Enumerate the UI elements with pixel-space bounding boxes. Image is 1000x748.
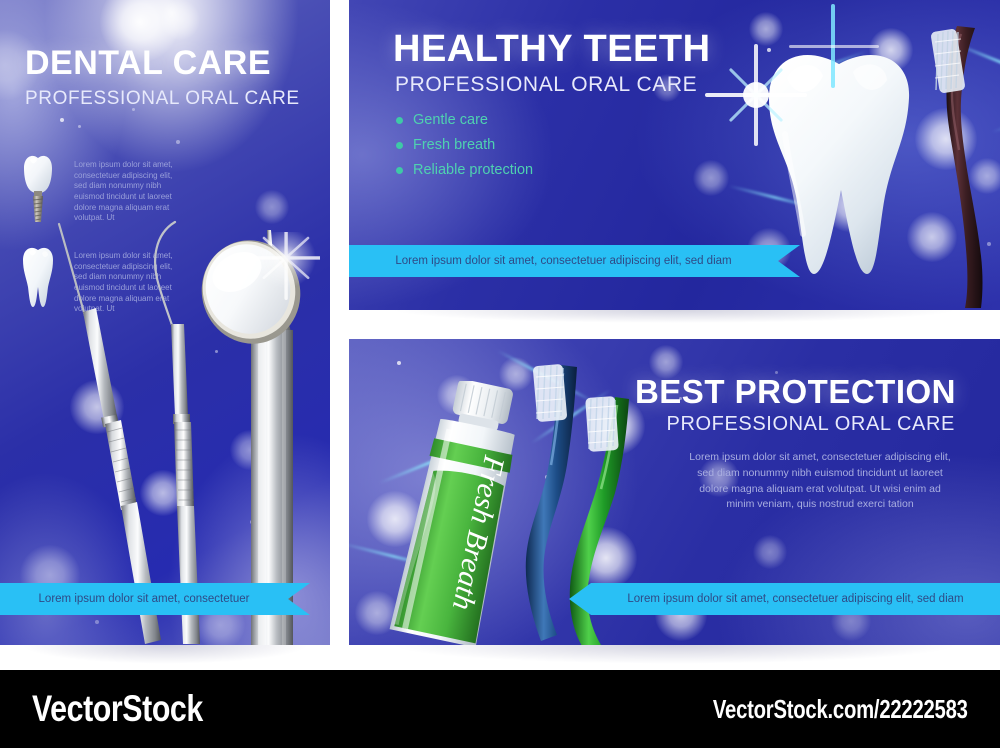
poster-set: DENTAL CARE PROFESSIONAL ORAL CARE (0, 0, 1000, 748)
bullet-dot-icon (396, 142, 403, 149)
toothpaste-tube-icon: Fresh Breath (373, 381, 563, 645)
banner-title: HEALTHY TEETH (393, 30, 711, 68)
banner-subtitle: PROFESSIONAL ORAL CARE (667, 414, 955, 434)
bottom-banner-ribbon[interactable]: Lorem ipsum dolor sit amet, consectetuer… (569, 583, 1000, 615)
left-poster-ribbon[interactable]: Lorem ipsum dolor sit amet, consectetuer (0, 583, 310, 615)
dental-implant-icon (18, 150, 58, 226)
watermark-footer: VectorStock VectorStock.com/22222583 (0, 670, 1000, 748)
bullet-dot-icon (396, 167, 403, 174)
bullet-item: Reliable protection (396, 162, 533, 178)
bristles (585, 396, 619, 452)
bullet-label: Gentle care (413, 112, 488, 128)
feature-item: Lorem ipsum dolor sit amet, consectetuer… (18, 150, 186, 226)
bullet-dot-icon (396, 117, 403, 124)
vectorstock-logo: VectorStock (32, 688, 203, 730)
feature-text: Lorem ipsum dolor sit amet, consectetuer… (74, 160, 186, 224)
ribbon-text: Lorem ipsum dolor sit amet, consectetuer (39, 593, 250, 605)
page-title: DENTAL CARE (25, 46, 271, 80)
page-subtitle: PROFESSIONAL ORAL CARE (25, 89, 300, 108)
bullet-label: Reliable protection (413, 162, 533, 178)
top-banner-ribbon[interactable]: Lorem ipsum dolor sit amet, consectetuer… (349, 245, 800, 277)
bullet-item: Gentle care (396, 112, 533, 128)
dental-mirror-icon (185, 232, 320, 352)
banner-shadow (349, 645, 1000, 671)
feature-bullet-list: Gentle care Fresh breath Reliable protec… (396, 112, 533, 187)
bullet-label: Fresh breath (413, 137, 495, 153)
banner-shadow (349, 310, 1000, 328)
dark-toothbrush-icon (905, 16, 1000, 310)
ribbon-text: Lorem ipsum dolor sit amet, consectetuer… (627, 593, 963, 605)
tooth-icon (18, 243, 58, 315)
dental-care-poster: DENTAL CARE PROFESSIONAL ORAL CARE (0, 0, 330, 645)
banner-body-text: Lorem ipsum dolor sit amet, consectetuer… (686, 450, 954, 513)
banner-title: BEST PROTECTION (635, 375, 956, 408)
vectorstock-url: VectorStock.com/22222583 (713, 694, 968, 725)
sparkle-burst-icon (779, 2, 889, 92)
ribbon-text: Lorem ipsum dolor sit amet, consectetuer… (395, 255, 731, 267)
bullet-item: Fresh breath (396, 137, 533, 153)
poster-shadow (0, 645, 330, 671)
banner-subtitle: PROFESSIONAL ORAL CARE (395, 74, 697, 95)
